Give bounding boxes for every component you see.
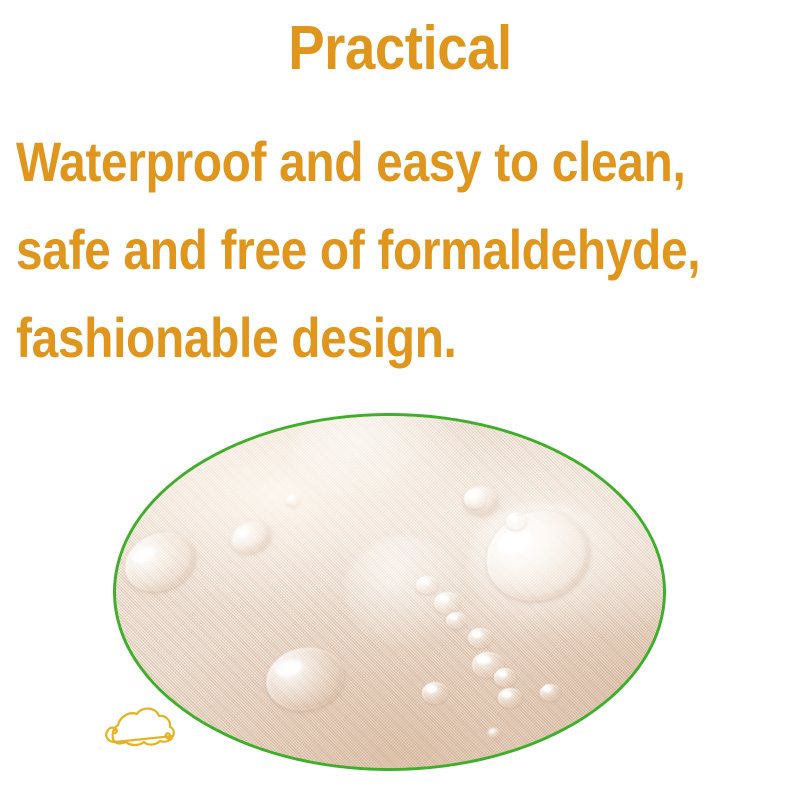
description-line-1: Waterproof and easy to clean, <box>16 118 691 206</box>
water-droplet <box>286 494 300 506</box>
water-droplet <box>446 612 466 629</box>
water-droplet <box>416 576 438 594</box>
fabric-photo-ellipse <box>113 413 666 771</box>
description-block: Waterproof and easy to clean, safe and f… <box>16 118 800 382</box>
cloud-icon <box>101 696 181 754</box>
water-droplet <box>498 688 522 708</box>
description-line-2: safe and free of formaldehyde, <box>16 206 691 294</box>
page-title: Practical <box>48 14 752 84</box>
water-sheet-center <box>344 536 464 646</box>
description-line-3: fashionable design. <box>16 294 691 382</box>
water-droplet <box>422 682 448 704</box>
water-droplet <box>468 628 492 648</box>
water-droplet <box>494 668 516 687</box>
water-droplet <box>464 489 486 509</box>
water-droplet <box>434 592 460 614</box>
page-root: Practical Waterproof and easy to clean, … <box>0 0 800 800</box>
water-droplet <box>540 684 560 701</box>
water-droplet <box>506 512 526 530</box>
water-droplet <box>488 728 500 738</box>
